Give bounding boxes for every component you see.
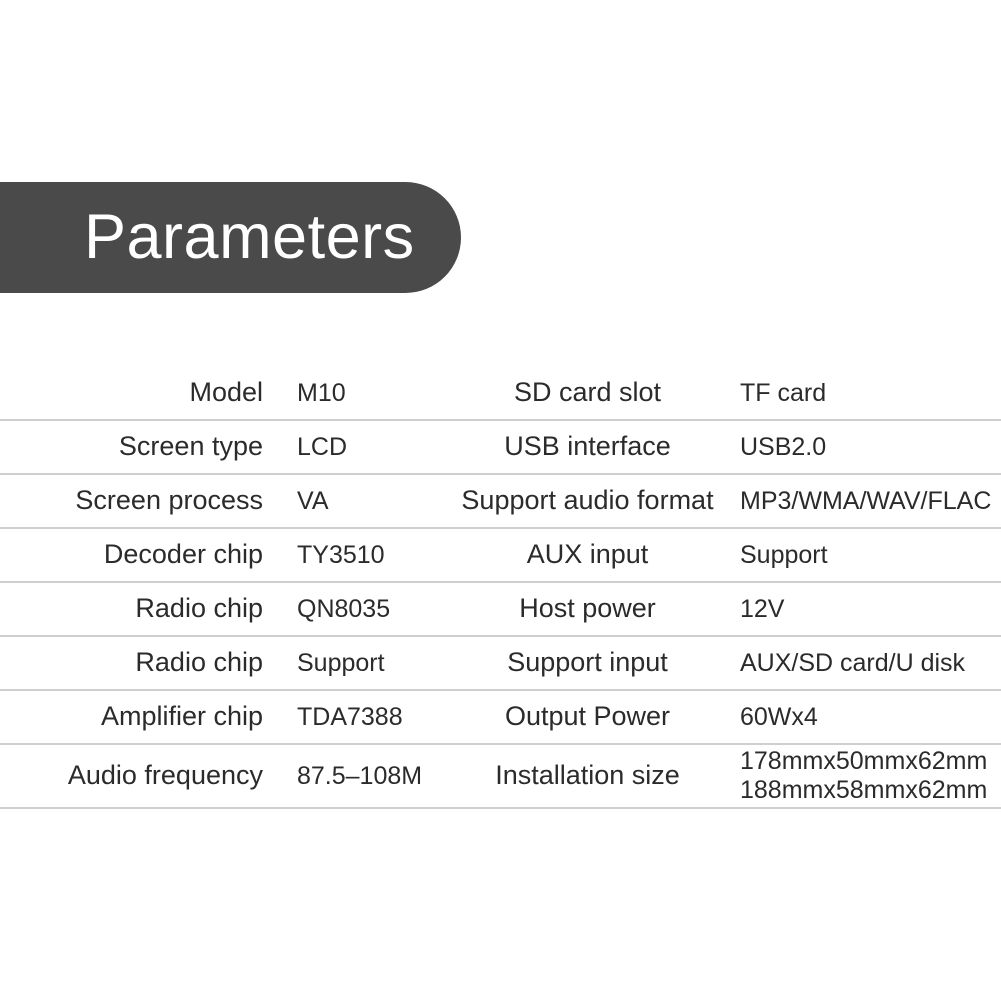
table-row: ModelM10SD card slotTF card: [0, 367, 1001, 421]
spec-label-right: Support input: [450, 647, 725, 678]
spec-label-left: Screen type: [0, 431, 265, 462]
table-row: Decoder chipTY3510AUX inputSupport: [0, 529, 1001, 583]
spec-label-left: Model: [0, 377, 265, 408]
spec-value-right: 12V: [725, 595, 1001, 624]
spec-label-right: Host power: [450, 593, 725, 624]
spec-value-right-line2: 188mmx58mmx62mm: [740, 776, 1001, 806]
spec-label-right: Support audio format: [450, 485, 725, 516]
spec-value-right: 178mmx50mmx62mm188mmx58mmx62mm: [725, 747, 1001, 806]
table-row: Screen processVASupport audio formatMP3/…: [0, 475, 1001, 529]
spec-label-right: Installation size: [450, 760, 725, 791]
parameters-header-banner: Parameters: [0, 182, 461, 293]
spec-label-right: AUX input: [450, 539, 725, 570]
spec-label-left: Radio chip: [0, 593, 265, 624]
spec-label-left: Amplifier chip: [0, 701, 265, 732]
spec-label-right: SD card slot: [450, 377, 725, 408]
spec-value-left: TDA7388: [265, 703, 450, 732]
page-title: Parameters: [84, 206, 415, 269]
table-row: Amplifier chipTDA7388Output Power60Wx4: [0, 691, 1001, 745]
spec-label-left: Audio frequency: [0, 760, 265, 791]
table-row: Screen typeLCDUSB interfaceUSB2.0: [0, 421, 1001, 475]
spec-label-left: Screen process: [0, 485, 265, 516]
spec-value-left: QN8035: [265, 595, 450, 624]
spec-value-right: MP3/WMA/WAV/FLAC: [725, 487, 1001, 516]
spec-value-right: Support: [725, 541, 1001, 570]
spec-value-right: AUX/SD card/U disk: [725, 649, 1001, 678]
spec-value-right: TF card: [725, 379, 1001, 408]
specifications-table: ModelM10SD card slotTF cardScreen typeLC…: [0, 367, 1001, 809]
spec-label-right: USB interface: [450, 431, 725, 462]
spec-value-right: 60Wx4: [725, 703, 1001, 732]
spec-label-left: Decoder chip: [0, 539, 265, 570]
spec-value-right: USB2.0: [725, 433, 1001, 462]
table-row: Radio chipSupportSupport inputAUX/SD car…: [0, 637, 1001, 691]
spec-label-left: Radio chip: [0, 647, 265, 678]
table-row: Radio chipQN8035Host power12V: [0, 583, 1001, 637]
table-row: Audio frequency87.5–108MInstallation siz…: [0, 745, 1001, 809]
spec-value-left: M10: [265, 379, 450, 408]
spec-label-right: Output Power: [450, 701, 725, 732]
spec-value-left: LCD: [265, 433, 450, 462]
spec-value-left: 87.5–108M: [265, 762, 450, 791]
spec-value-left: TY3510: [265, 541, 450, 570]
spec-value-left: VA: [265, 487, 450, 516]
spec-value-left: Support: [265, 649, 450, 678]
spec-value-right-line1: 178mmx50mmx62mm: [740, 747, 1001, 777]
